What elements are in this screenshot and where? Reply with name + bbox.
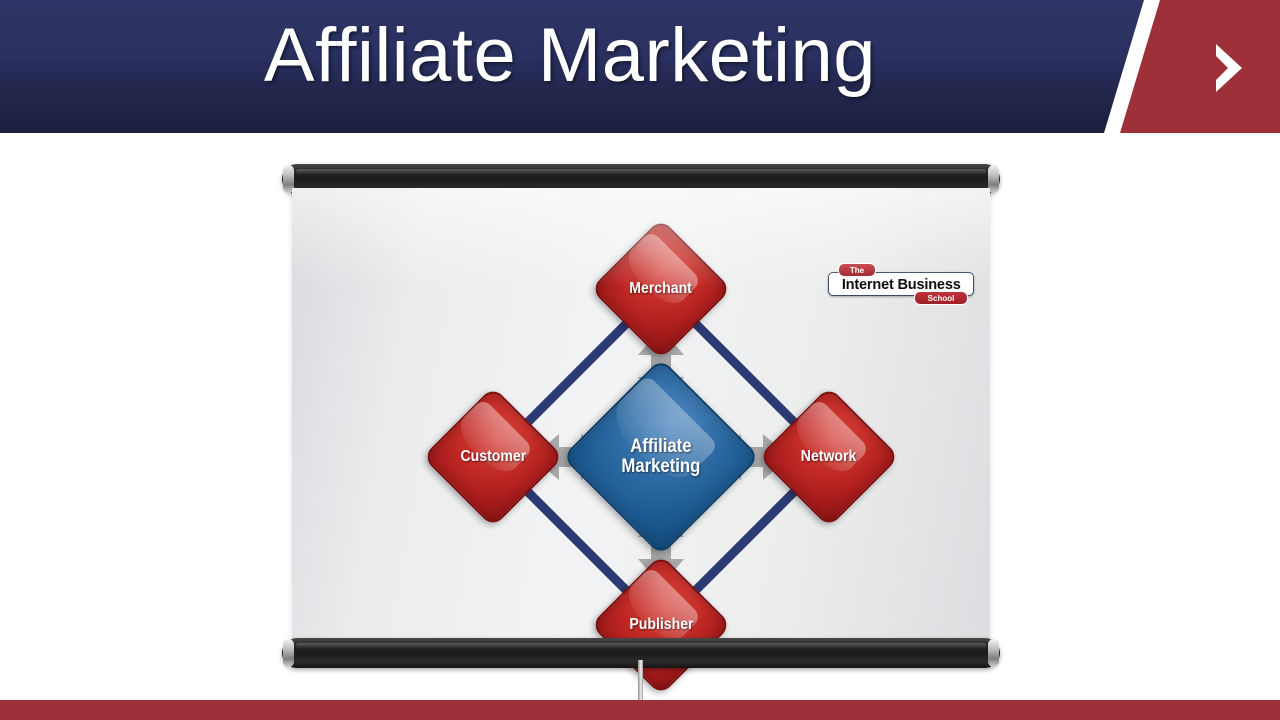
logo-main-text: Internet Business [842,276,961,293]
projector-screen: Merchant Network Publisher Customer [282,160,1000,672]
chevron-right-icon[interactable] [1208,40,1248,96]
logo-school-badge: School [914,291,968,305]
logo-the-badge: The [838,263,876,277]
publisher-label: Publisher [629,617,693,634]
affiliate-marketing-diagram: Merchant Network Publisher Customer [292,188,990,638]
screen-surface: Merchant Network Publisher Customer [292,188,990,638]
logo-school-text: School [928,294,955,303]
diagram-node-customer[interactable]: Customer [443,407,543,507]
roller-cap-bottom-right [988,639,999,667]
logo-the-text: The [850,266,864,275]
diagram-node-center-affiliate-marketing[interactable]: Affiliate Marketing [591,387,731,527]
slide-header: Affiliate Marketing [0,0,1280,133]
internet-business-school-logo: Internet Business The School [824,263,976,303]
slide-root: Affiliate Marketing [0,0,1280,720]
center-label: Affiliate Marketing [622,437,701,477]
diagram-node-network[interactable]: Network [779,407,879,507]
roller-highlight [296,169,986,174]
diagram-node-merchant[interactable]: Merchant [611,239,711,339]
roller-cap-bottom-left [283,639,294,667]
roller-highlight-bottom [296,643,986,648]
page-title: Affiliate Marketing [0,14,1140,98]
merchant-label: Merchant [630,281,693,298]
customer-label: Customer [460,449,526,466]
slide-footer-bar [0,700,1280,720]
network-label: Network [801,449,857,466]
